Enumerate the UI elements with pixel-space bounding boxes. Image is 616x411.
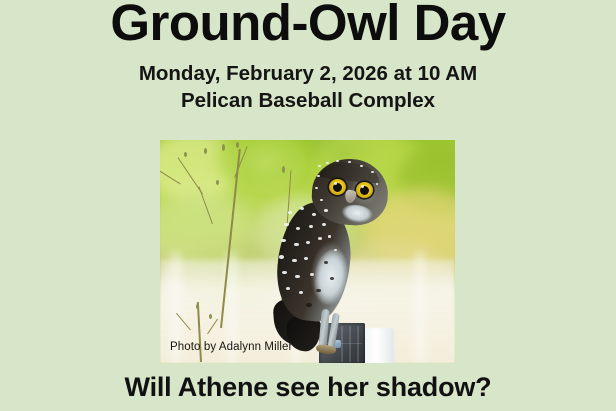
owl-speckle — [324, 209, 328, 212]
owl-speckle — [320, 199, 323, 201]
burrowing-owl — [268, 157, 398, 363]
fence-post — [412, 252, 428, 364]
owl-speckle — [279, 255, 284, 259]
owl-speckle — [299, 291, 303, 294]
owl-speckle — [310, 273, 314, 276]
grass-seed — [209, 314, 212, 319]
grass-seed — [196, 304, 199, 309]
owl-dark-fleck — [330, 277, 334, 280]
grass-seed — [184, 152, 187, 157]
grass-seed — [204, 148, 207, 154]
page-title: Ground-Owl Day — [0, 0, 616, 51]
grass-seed — [222, 144, 225, 151]
grass-seed — [236, 142, 239, 148]
grass-seed — [216, 180, 219, 185]
poster-tagline: Will Athene see her shadow? — [0, 371, 616, 403]
owl-eye-glint — [334, 182, 337, 185]
owl-photograph — [160, 140, 455, 363]
owl-speckle — [371, 171, 374, 173]
photo-credit-caption: Photo by Adalynn Miller — [170, 341, 292, 353]
owl-speckle — [360, 165, 363, 167]
owl-speckle — [322, 223, 326, 226]
owl-eye-glint — [361, 185, 364, 188]
owl-speckle — [326, 162, 329, 164]
owl-speckle — [336, 160, 339, 162]
poster-canvas: Ground-Owl Day Monday, February 2, 2026 … — [0, 0, 616, 411]
owl-dark-fleck — [306, 303, 312, 307]
owl-speckle — [318, 237, 322, 240]
owl-speckle — [312, 213, 316, 216]
owl-speckle — [288, 211, 292, 214]
owl-speckle — [348, 161, 351, 163]
owl-speckle — [318, 165, 321, 167]
event-date-line: Monday, February 2, 2026 at 10 AM — [0, 62, 616, 87]
owl-speckle — [328, 235, 331, 238]
owl-speckle — [317, 175, 320, 177]
owl-speckle — [295, 275, 300, 278]
owl-dark-fleck — [324, 261, 328, 264]
event-venue-line: Pelican Baseball Complex — [0, 89, 616, 114]
